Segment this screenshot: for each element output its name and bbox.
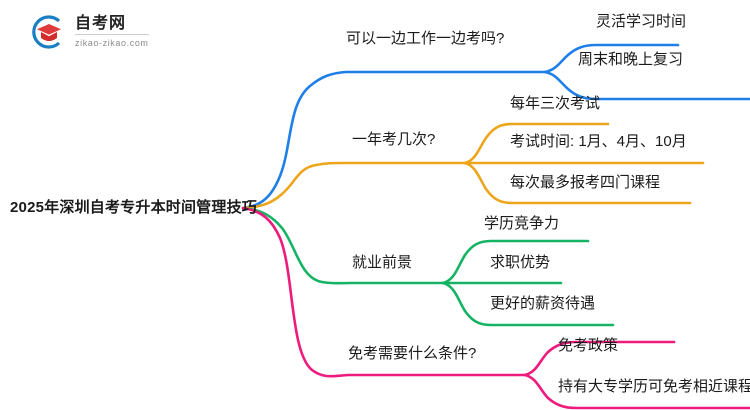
subnode-exam-months[interactable]: 考试时间: 1月、4月、10月 (510, 134, 687, 149)
subnode-three-exams-yearly[interactable]: 每年三次考试 (510, 96, 600, 111)
subnode-degree-competitiveness[interactable]: 学历竞争力 (484, 216, 559, 231)
subnode-college-degree-exemption[interactable]: 持有大专学历可免考相近课程 (558, 379, 750, 394)
root-node-label[interactable]: 2025年深圳自考专升本时间管理技巧 (10, 200, 257, 215)
mindmap-canvas: 自考网 zikao-zikao.com 2025年深圳自考专升本时间管理技巧 可… (0, 0, 750, 410)
subnode-better-salary[interactable]: 更好的薪资待遇 (490, 296, 595, 311)
subnode-exemption-policy[interactable]: 免考政策 (558, 338, 618, 353)
branch-label-exemption-conditions[interactable]: 免考需要什么条件? (348, 346, 476, 361)
subnode-weekend-evening-review[interactable]: 周末和晚上复习 (578, 52, 683, 67)
branch-line-green-trunk (243, 208, 443, 283)
branch-label-career-prospects[interactable]: 就业前景 (352, 255, 412, 270)
branch-label-work-while-studying[interactable]: 可以一边工作一边考吗? (346, 31, 504, 46)
subnode-max-four-courses[interactable]: 每次最多报考四门课程 (510, 175, 660, 190)
subnode-job-seeking-advantage[interactable]: 求职优势 (490, 255, 550, 270)
branch-label-exams-per-year[interactable]: 一年考几次? (352, 132, 435, 147)
subnode-flexible-study-time[interactable]: 灵活学习时间 (596, 14, 686, 29)
